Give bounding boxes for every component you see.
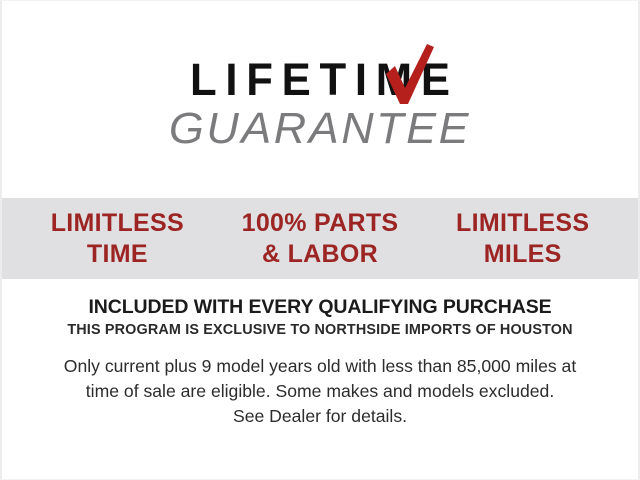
benefit-line-2: MILES — [421, 239, 624, 270]
logo-guarantee-text: GUARANTEE — [0, 106, 640, 153]
benefits-band: LIMITLESS TIME 100% PARTS & LABOR LIMITL… — [2, 198, 638, 279]
logo-lifetime-text: LIFETIME — [181, 57, 458, 102]
benefit-line-1: 100% PARTS — [219, 208, 422, 239]
disclaimer-body-line: time of sale are eligible. Some makes an… — [28, 379, 612, 404]
benefit-line-1: LIMITLESS — [421, 208, 624, 239]
benefit-line-1: LIMITLESS — [16, 208, 219, 239]
benefit-limitless-miles: LIMITLESS MILES — [421, 208, 624, 269]
lifetime-guarantee-ad: LIFETIME GUARANTEE LIMITLESS TIME 100% P… — [0, 0, 640, 480]
benefit-line-2: & LABOR — [219, 239, 422, 270]
disclaimer-block: INCLUDED WITH EVERY QUALIFYING PURCHASE … — [2, 297, 638, 429]
benefit-line-2: TIME — [16, 239, 219, 270]
logo-lockup: LIFETIME GUARANTEE — [2, 57, 638, 153]
logo-lifetime-row: LIFETIME — [177, 57, 463, 102]
disclaimer-body-line: Only current plus 9 model years old with… — [28, 354, 612, 379]
disclaimer-body-line: See Dealer for details. — [28, 404, 612, 429]
disclaimer-subheadline: THIS PROGRAM IS EXCLUSIVE TO NORTHSIDE I… — [2, 322, 638, 339]
disclaimer-headline: INCLUDED WITH EVERY QUALIFYING PURCHASE — [2, 297, 638, 319]
disclaimer-body: Only current plus 9 model years old with… — [2, 354, 638, 429]
benefit-parts-and-labor: 100% PARTS & LABOR — [219, 208, 422, 269]
benefit-limitless-time: LIMITLESS TIME — [16, 208, 219, 269]
